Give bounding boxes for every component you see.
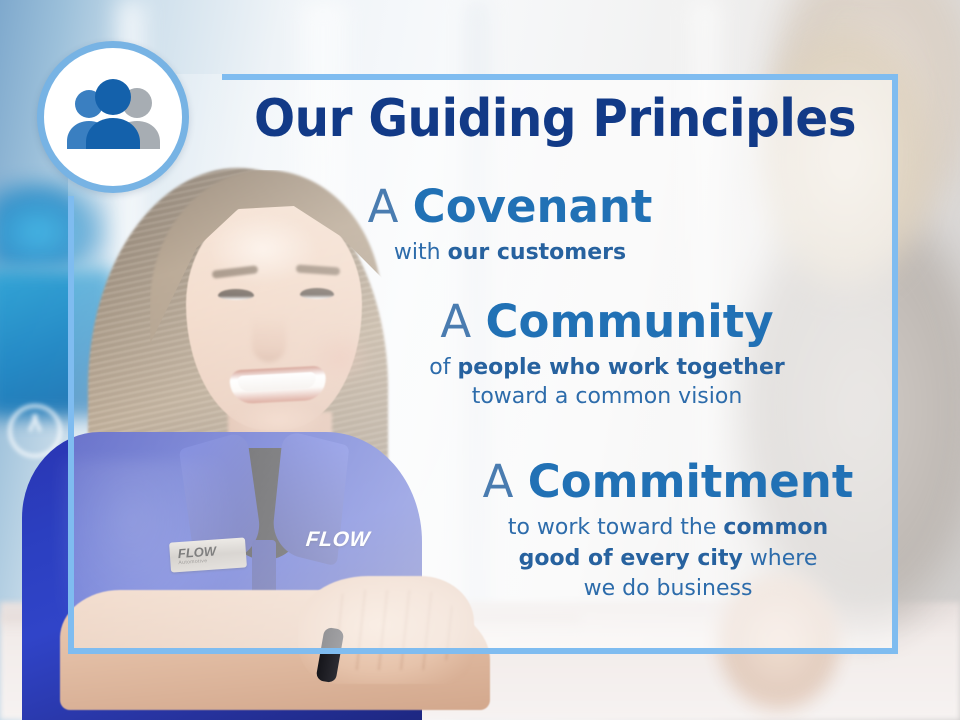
- principle-article: A: [368, 180, 413, 233]
- principle-sub-strong: people who work together: [457, 355, 784, 380]
- principle-sub-lead: of: [429, 355, 457, 380]
- blurred-customer-hair: [740, 0, 950, 330]
- principle-community: A Community of people who work together …: [392, 298, 822, 411]
- principle-heading: A Community: [392, 298, 822, 345]
- principle-sub-line2: toward a common vision: [472, 384, 743, 409]
- principle-keyword: Covenant: [413, 180, 653, 233]
- name-badge-subtext: Automotive: [178, 558, 207, 566]
- principle-sub-lead: with: [394, 240, 448, 265]
- frame-border-right: [892, 74, 898, 654]
- frame-border-left: [68, 196, 74, 654]
- principle-subtext: of people who work together toward a com…: [392, 353, 822, 411]
- principle-commitment: A Commitment to work toward the common g…: [448, 458, 888, 604]
- eye-right: [300, 288, 334, 299]
- guiding-principles-graphic: FLOW FLOW Automotive: [0, 0, 960, 720]
- principle-heading: A Covenant: [340, 183, 680, 230]
- principle-keyword: Community: [486, 295, 774, 348]
- principle-article: A: [440, 295, 485, 348]
- principle-sub-line2: we do business: [584, 576, 753, 601]
- people-group-badge: [37, 41, 189, 193]
- eye-left: [218, 289, 254, 300]
- shirt-logo: FLOW: [305, 528, 371, 552]
- principle-article: A: [483, 455, 528, 508]
- principle-subtext: with our customers: [340, 238, 680, 267]
- principle-sub-strong: our customers: [448, 240, 627, 265]
- nose: [252, 306, 286, 362]
- principle-covenant: A Covenant with our customers: [340, 183, 680, 267]
- frame-border-top: [222, 74, 898, 80]
- principle-sub-tail: where: [743, 546, 818, 571]
- principle-sub-strong2: good of every city: [519, 546, 743, 571]
- principle-sub-lead: to work toward the: [508, 515, 724, 540]
- principle-heading: A Commitment: [448, 458, 888, 505]
- name-badge: FLOW Automotive: [169, 537, 247, 572]
- page-title: Our Guiding Principles: [245, 92, 864, 147]
- principle-keyword: Commitment: [528, 455, 854, 508]
- people-group-icon: [57, 77, 169, 157]
- principle-subtext: to work toward the common good of every …: [448, 513, 888, 604]
- frame-border-bottom: [68, 648, 898, 654]
- principle-sub-strong: common: [723, 515, 828, 540]
